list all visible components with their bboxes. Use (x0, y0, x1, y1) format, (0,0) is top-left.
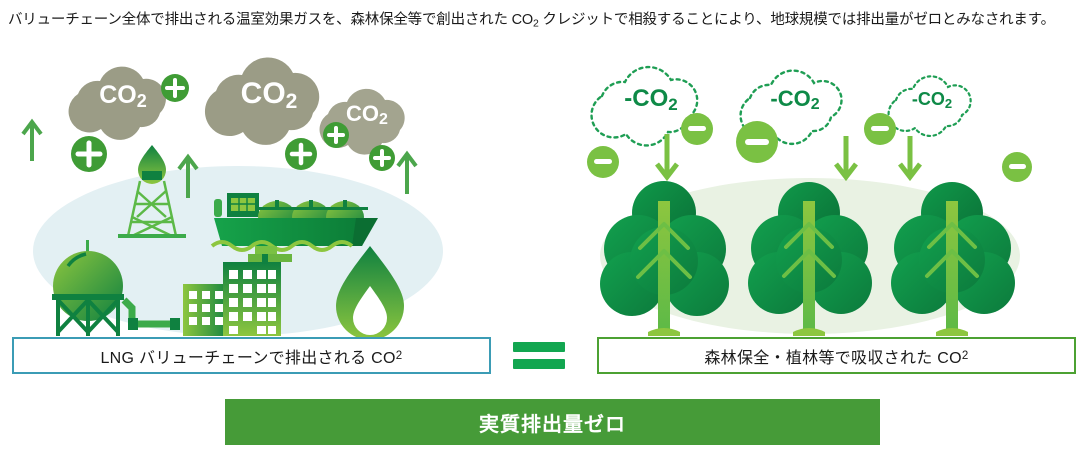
plus-badge-2 (161, 74, 189, 102)
lng-emissions-scene: CO2 CO2 CO2 (0, 46, 520, 336)
forest-absorption-scene: -CO2 -CO2 -CO2 (560, 46, 1088, 336)
figure-caption: バリューチェーン全体で排出される温室効果ガスを、森林保全等で創出された CO2 … (8, 10, 1080, 34)
svg-text:-CO2: -CO2 (770, 86, 819, 113)
plus-badge-3 (285, 138, 317, 170)
minus-badge-4 (864, 113, 896, 145)
left-label-subscript: 2 (396, 350, 403, 362)
right-label-subscript: 2 (962, 350, 969, 362)
minus-co2-cloud-1: -CO2 (592, 67, 698, 145)
co2-cloud-2: CO2 (205, 58, 319, 145)
equals-bar-top (513, 342, 565, 352)
right-label-box[interactable]: 森林保全・植林等で吸収された CO2 (597, 337, 1076, 374)
left-label-text: LNG バリューチェーンで排出される CO (100, 344, 395, 368)
minus-badge-5 (1002, 152, 1032, 182)
down-arrow-2 (836, 136, 856, 177)
minus-badge-3 (736, 121, 778, 163)
equals-sign (513, 342, 565, 370)
svg-text:-CO2: -CO2 (912, 89, 952, 111)
minus-badge-1 (587, 146, 619, 178)
down-arrow-3 (900, 136, 920, 177)
plus-badge-1 (71, 136, 107, 172)
infographic-stage: バリューチェーン全体で排出される温室効果ガスを、森林保全等で創出された CO2 … (0, 0, 1088, 464)
caption-text-a: バリューチェーン全体で排出される温室効果ガスを、森林保全等で創出された CO (8, 12, 533, 28)
caption-text-b: クレジットで相殺することにより、地球規模では排出量がゼロとみなされます。 (539, 12, 1055, 28)
minus-badge-2 (681, 113, 713, 145)
plus-badge-5 (369, 145, 395, 171)
net-zero-banner: 実質排出量ゼロ (225, 399, 880, 445)
up-arrow-1 (23, 122, 41, 161)
minus-co2-cloud-3: -CO2 (889, 76, 971, 136)
right-label-text: 森林保全・植林等で吸収された CO (704, 344, 962, 368)
left-label-box[interactable]: LNG バリューチェーンで排出される CO2 (12, 337, 491, 374)
plus-badge-4 (323, 122, 349, 148)
co2-cloud-1: CO2 (69, 67, 166, 140)
net-zero-banner-text: 実質排出量ゼロ (479, 408, 626, 437)
up-arrow-3 (398, 154, 416, 194)
svg-text:-CO2: -CO2 (624, 85, 677, 114)
equals-bar-bottom (513, 359, 565, 369)
